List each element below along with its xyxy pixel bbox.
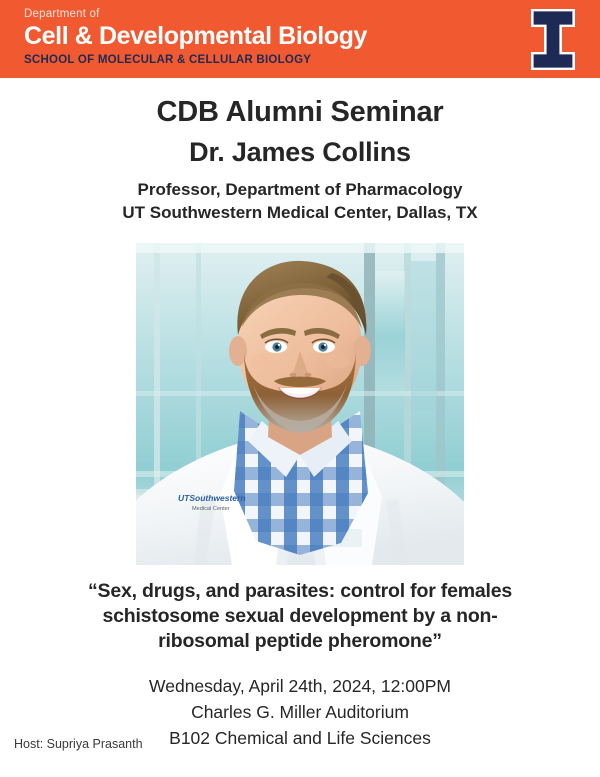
page-title: CDB Alumni Seminar (0, 94, 600, 130)
department-banner: Department of Cell & Developmental Biolo… (0, 0, 600, 78)
event-venue: Charles G. Miller Auditorium (0, 699, 600, 725)
speaker-name: Dr. James Collins (0, 135, 600, 169)
talk-title: “Sex, drugs, and parasites: control for … (50, 579, 550, 654)
banner-department-label: Department of (24, 7, 600, 21)
banner-school-subtitle: SCHOOL OF MOLECULAR & CELLULAR BIOLOGY (24, 53, 600, 68)
banner-department-title: Cell & Developmental Biology (24, 21, 600, 51)
block-i-icon (527, 9, 579, 70)
flyer-body: CDB Alumni Seminar Dr. James Collins Pro… (0, 94, 600, 751)
svg-text:UTSouthwestern: UTSouthwestern (178, 493, 246, 503)
event-datetime: Wednesday, April 24th, 2024, 12:00PM (0, 673, 600, 699)
speaker-portrait: UTSouthwestern Medical Center (136, 243, 464, 565)
speaker-portrait-image: UTSouthwestern Medical Center (136, 243, 464, 565)
talk-title-line-2: schistosome sexual development by a non- (50, 604, 550, 629)
block-i-logo (527, 9, 579, 70)
svg-text:Medical Center: Medical Center (192, 506, 230, 512)
speaker-affiliation: UT Southwestern Medical Center, Dallas, … (0, 201, 600, 224)
talk-title-line-1: “Sex, drugs, and parasites: control for … (50, 579, 550, 604)
host-label: Host: Supriya Prasanth (14, 737, 143, 751)
talk-title-line-3: ribosomal peptide pheromone” (50, 629, 550, 654)
speaker-role: Professor, Department of Pharmacology (0, 178, 600, 201)
